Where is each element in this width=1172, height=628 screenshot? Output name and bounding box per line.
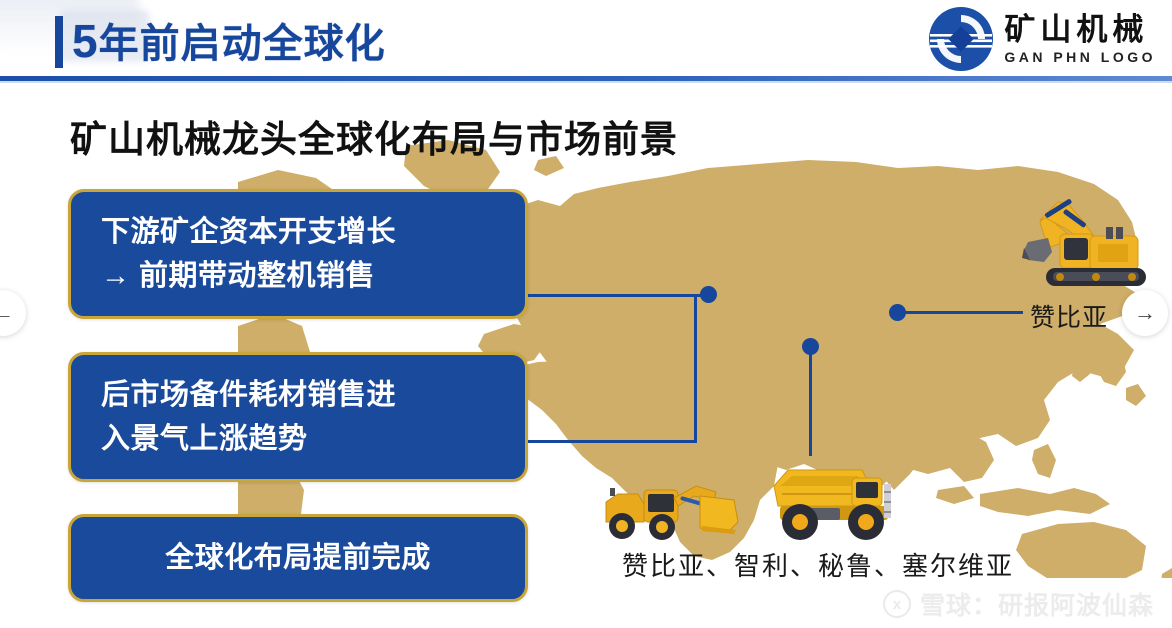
brand-name-cn: 矿山机械 [1004,12,1156,48]
connector-box1-horizontal [528,294,711,297]
callout-box-globalization[interactable]: 全球化布局提前完成 [68,514,528,602]
brand-logo-text: 矿山机械 GAN PHN LOGO [1004,12,1156,66]
header-eyebrow: 5年前启动全球化 [72,14,386,71]
marker-east-asia[interactable] [889,304,906,321]
callout-box-globalization-text: 全球化布局提前完成 [147,536,449,580]
header-divider-soft [0,81,1172,83]
map-label-countries: 赞比亚、智利、秘鲁、塞尔维亚 [622,546,1014,583]
wheel-loader-illustration [596,474,741,544]
header-eyebrow-number: 5 [72,15,99,67]
page-title: 矿山机械龙头全球化布局与市场前景 [70,116,678,164]
connector-box2-horizontal [528,440,697,443]
arrow-left-icon: ← [0,302,14,324]
xueqiu-logo-icon: x [883,590,911,618]
excavator-illustration [1006,186,1156,291]
slide-canvas: 5年前启动全球化 矿山机械 GAN PHN LOGO 矿山机械龙头全球化布局与市… [0,0,1172,628]
marker-caucasus[interactable] [700,286,717,303]
callout-box-capex[interactable]: 下游矿企资本开支增长 → 前期带动整机销售 [68,189,528,319]
circular-diamond-emblem-icon [928,6,994,72]
next-slide-button[interactable]: → [1122,290,1168,336]
callout-box-aftermarket-text: 后市场备件耗材销售进 入景气上涨趋势 [71,373,414,461]
brand-logo: 矿山机械 GAN PHN LOGO [928,6,1156,72]
callout-box-aftermarket[interactable]: 后市场备件耗材销售进 入景气上涨趋势 [68,352,528,482]
callout-box-capex-text: 下游矿企资本开支增长 → 前期带动整机销售 [71,210,414,298]
connector-dot-caucasus-vertical [694,296,697,441]
header-accent-bar [55,16,63,68]
connector-dot-southasia-vertical [809,346,812,456]
map-label-zambia: 赞比亚 [1030,298,1108,334]
mining-dump-truck-illustration [766,452,911,544]
watermark: x 雪球：研报阿波仙森 [883,586,1154,622]
watermark-text: 雪球：研报阿波仙森 [920,586,1154,622]
connector-dot-eastasia-horizontal [903,311,1023,314]
marker-south-asia[interactable] [802,338,819,355]
header-eyebrow-text: 年前启动全球化 [99,22,386,66]
arrow-right-icon: → [1134,302,1156,324]
brand-name-en: GAN PHN LOGO [1004,48,1156,66]
prev-slide-button[interactable]: ← [0,290,26,336]
